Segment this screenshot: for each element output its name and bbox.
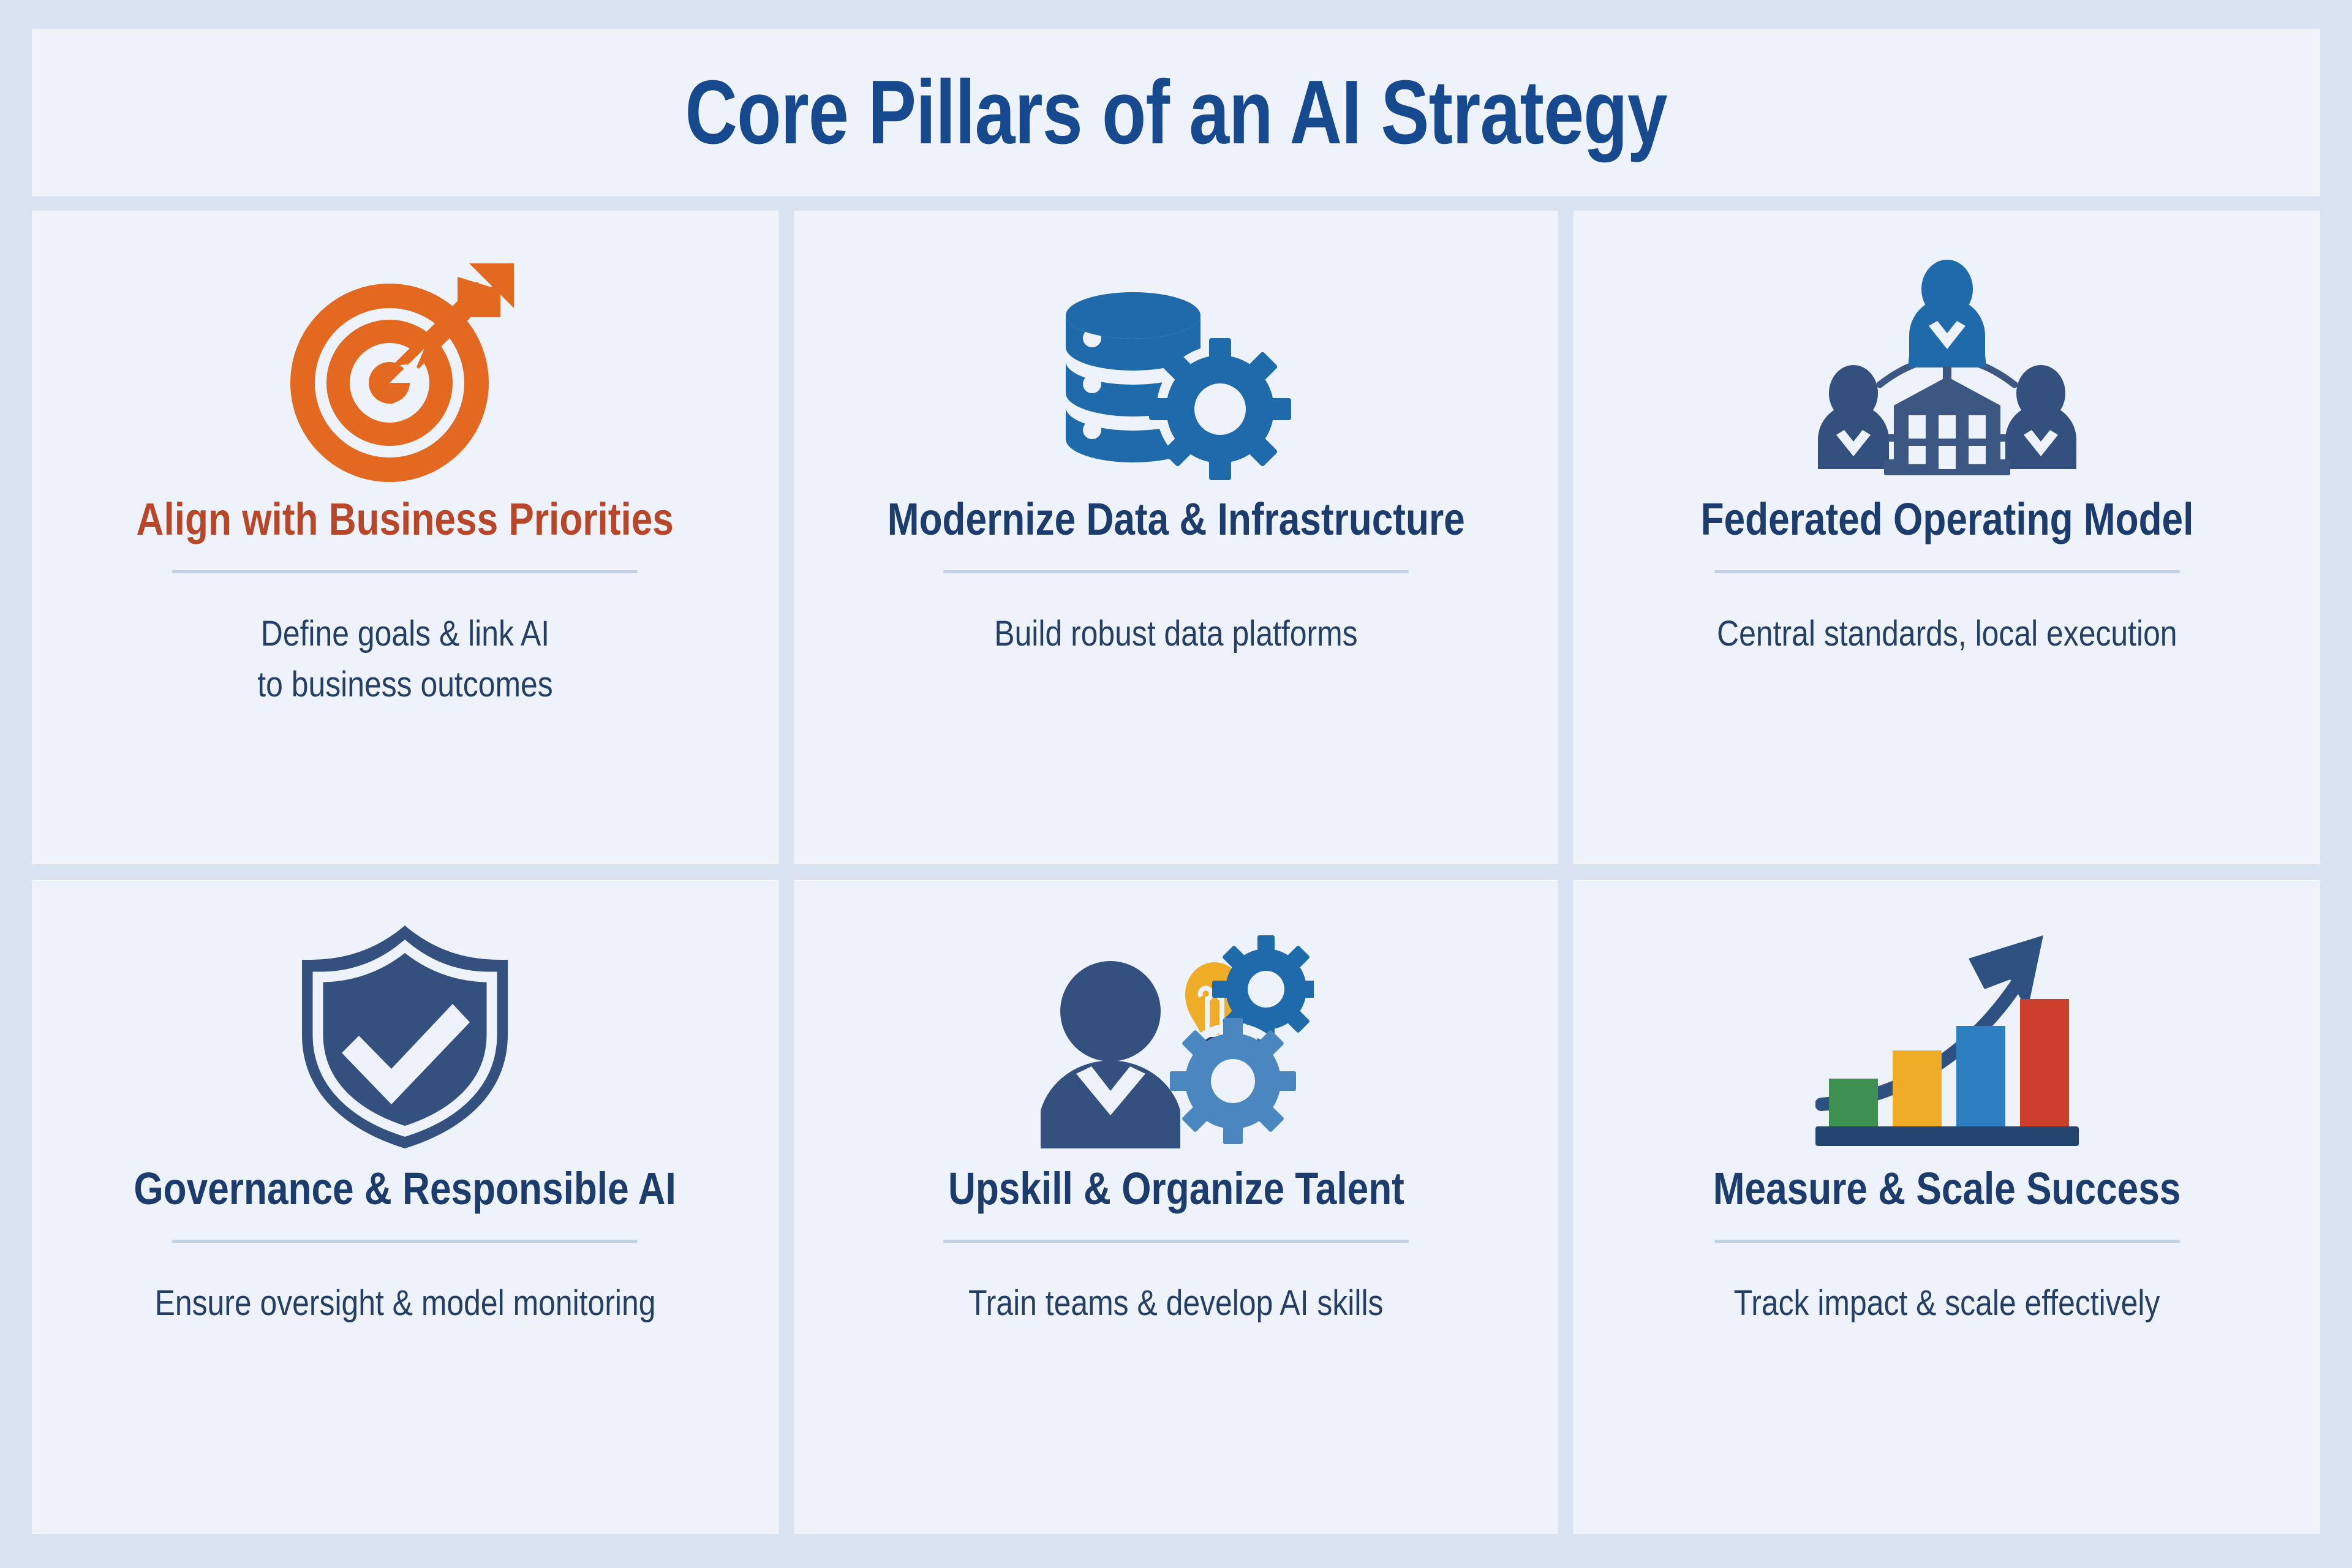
shield-check-icon (295, 908, 515, 1166)
pillar-card-title: Upskill & Organize Talent (948, 1166, 1404, 1212)
pillar-card-description: Central standards, local execution (1717, 609, 2177, 659)
pillar-card-description: Ensure oversight & model monitoring (154, 1278, 655, 1329)
title-band: Core Pillars of an AI Strategy (32, 29, 2320, 196)
pillar-card-title: Governance & Responsible AI (134, 1166, 676, 1212)
pillar-card-align-business-priorities[interactable]: Align with Business Priorities Define go… (32, 211, 778, 864)
title-divider (1714, 570, 2180, 573)
infographic-canvas: Core Pillars of an AI Strategy (0, 0, 2352, 1568)
pillar-card-description: Build robust data platforms (994, 609, 1357, 659)
pillar-card-title: Federated Operating Model (1700, 496, 2193, 542)
title-divider (943, 570, 1409, 573)
pillar-card-governance-responsible-ai[interactable]: Governance & Responsible AI Ensure overs… (32, 880, 778, 1534)
pillar-grid: Align with Business Priorities Define go… (32, 211, 2320, 1534)
pillar-card-title: Modernize Data & Infrastructure (888, 496, 1465, 542)
pillar-card-title: Measure & Scale Success (1713, 1166, 2181, 1212)
org-network-icon (1815, 239, 2079, 496)
pillar-card-description: Track impact & scale effectively (1734, 1278, 2160, 1329)
pillar-card-modernize-data-infrastructure[interactable]: Modernize Data & Infrastructure Build ro… (794, 211, 1558, 864)
person-lightbulb-gears-icon (1038, 908, 1314, 1166)
title-divider (1714, 1240, 2180, 1243)
title-divider (172, 570, 638, 573)
title-divider (172, 1240, 638, 1243)
growth-bar-chart-icon (1815, 908, 2079, 1166)
pillar-card-federated-operating-model[interactable]: Federated Operating Model Central standa… (1574, 211, 2320, 864)
target-arrow-icon (282, 239, 527, 496)
pillar-card-description: Define goals & link AI to business outco… (257, 609, 552, 710)
database-gear-icon (1053, 239, 1298, 496)
pillar-card-title: Align with Business Priorities (137, 496, 674, 542)
pillar-card-measure-scale-success[interactable]: Measure & Scale Success Track impact & s… (1574, 880, 2320, 1534)
pillar-card-upskill-organize-talent[interactable]: Upskill & Organize Talent Train teams & … (794, 880, 1558, 1534)
page-title: Core Pillars of an AI Strategy (685, 67, 1667, 158)
title-divider (943, 1240, 1409, 1243)
pillar-card-description: Train teams & develop AI skills (968, 1278, 1383, 1329)
